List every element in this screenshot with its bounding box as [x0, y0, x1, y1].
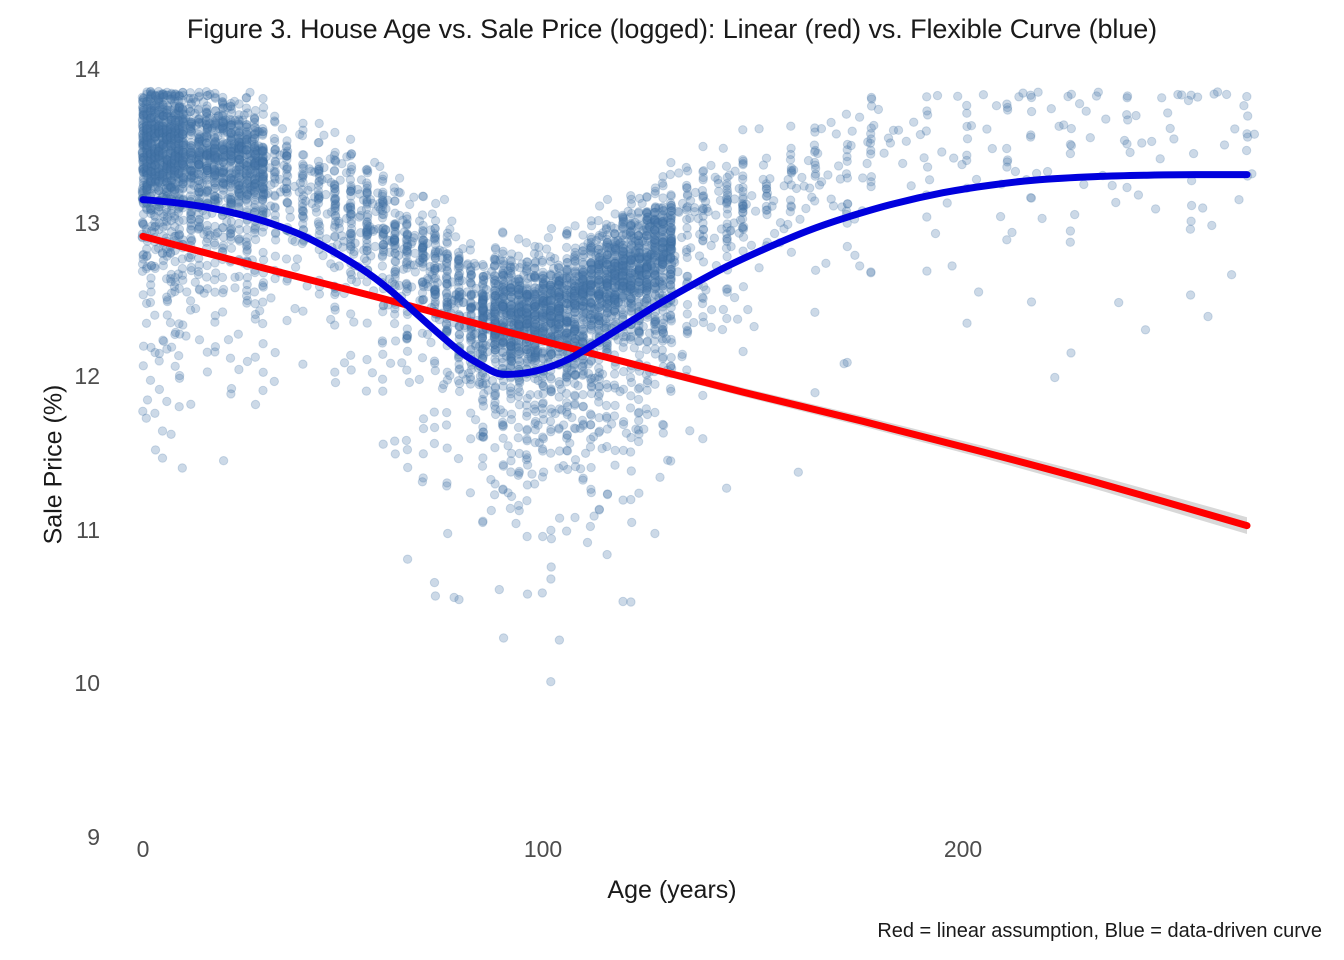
x-axis-title: Age (years) [0, 876, 1344, 905]
x-tick-label: 100 [524, 838, 562, 861]
y-tick-label: 13 [40, 212, 100, 235]
y-tick-label: 14 [40, 58, 100, 81]
y-tick-label: 11 [40, 519, 100, 542]
x-tick-label: 200 [944, 838, 982, 861]
page-title: Figure 3. House Age vs. Sale Price (logg… [0, 14, 1344, 45]
y-axis: Sale Price (%) 14 13 12 11 10 9 [18, 0, 100, 960]
x-tick-label: 0 [137, 838, 150, 861]
y-tick-label: 10 [40, 672, 100, 695]
figure-root: Figure 3. House Age vs. Sale Price (logg… [0, 0, 1344, 960]
figure-caption: Red = linear assumption, Blue = data-dri… [877, 920, 1322, 943]
y-tick-label: 12 [40, 365, 100, 388]
plot-canvas [110, 62, 1300, 842]
y-tick-label: 9 [40, 826, 100, 849]
plot-panel [110, 62, 1300, 842]
